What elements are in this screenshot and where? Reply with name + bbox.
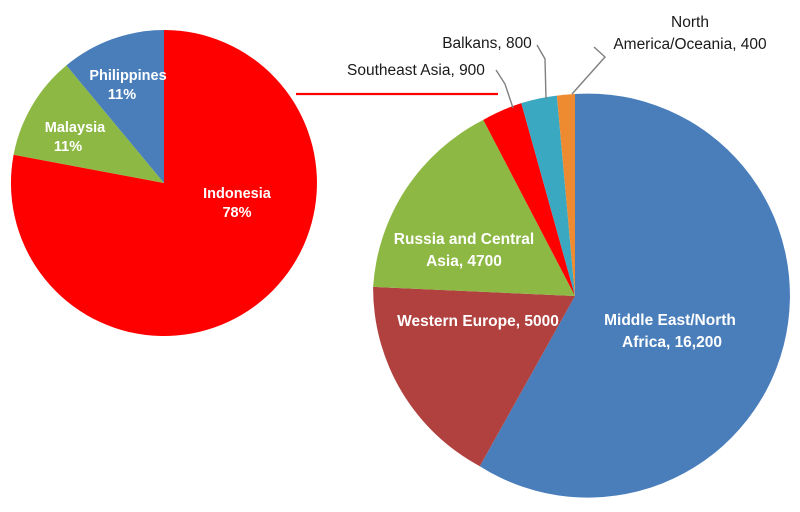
pie-label-middle-east-line2: Africa, 16,200	[622, 334, 722, 351]
pie-label-north-america-line2: America/Oceania, 400	[613, 36, 767, 53]
pie-label-indonesia-line2: 78%	[222, 205, 251, 221]
pie-label-western-europe: Western Europe, 5000	[397, 313, 559, 330]
pie-label-malaysia-line2: 11%	[54, 139, 82, 155]
pie-label-southeast-asia: Southeast Asia, 900	[347, 62, 485, 79]
pie-label-middle-east-line1: Middle East/North	[604, 312, 736, 329]
pie-label-russia-line2: Asia, 4700	[426, 253, 502, 270]
pie-label-malaysia-line1: Malaysia	[45, 120, 106, 136]
southeast-asia-breakdown-pie: Indonesia 78% Malaysia 11% Philippines 1…	[11, 30, 317, 336]
pie-label-north-america-line1: North	[671, 14, 709, 31]
pie-label-philippines-line2: 11%	[108, 87, 136, 103]
dual-pie-chart-figure: Indonesia 78% Malaysia 11% Philippines 1…	[0, 0, 800, 512]
pie-label-balkans: Balkans, 800	[442, 35, 532, 52]
pie-label-philippines-line1: Philippines	[89, 68, 166, 84]
pie-label-indonesia-line1: Indonesia	[203, 186, 272, 202]
pie-label-russia-line1: Russia and Central	[394, 231, 534, 248]
